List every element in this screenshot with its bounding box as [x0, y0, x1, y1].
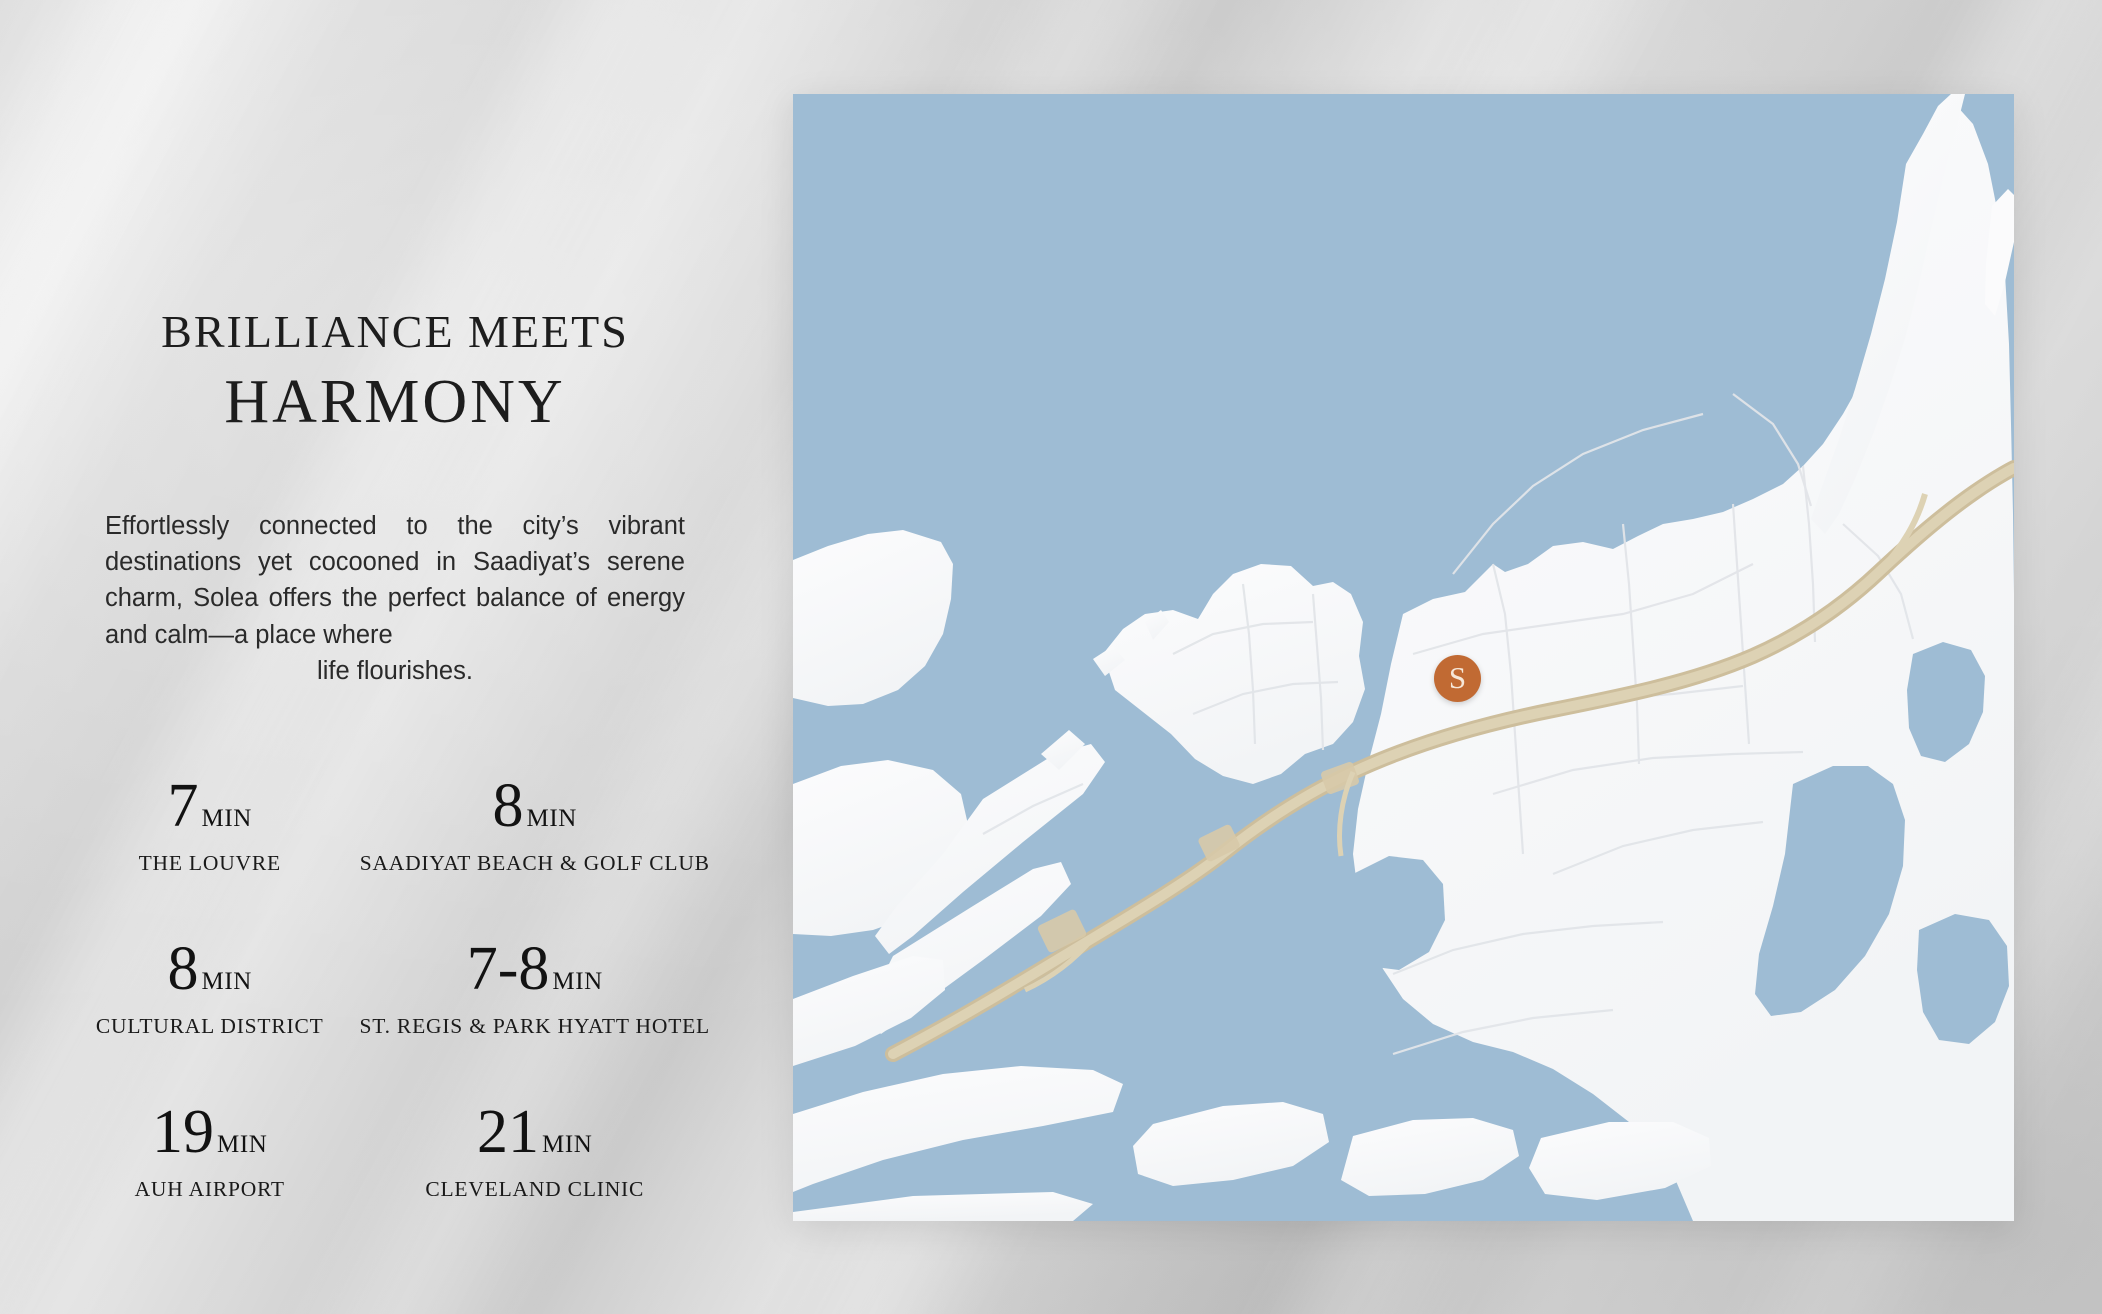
stat-number: 21 — [477, 1098, 539, 1166]
stat-number: 7 — [168, 772, 199, 840]
stat-value: 7MIN — [60, 775, 359, 837]
left-content-panel: BRILLIANCE MEETS HARMONY Effortlessly co… — [0, 0, 790, 1314]
body-paragraph: Effortlessly connected to the city’s vib… — [105, 508, 685, 689]
marker-letter: S — [1449, 662, 1466, 693]
stat-number: 7-8 — [467, 935, 550, 1003]
headline-line-1: BRILLIANCE MEETS — [0, 305, 790, 359]
stat-label: CLEVELAND CLINIC — [359, 1177, 710, 1202]
stat-value: 21MIN — [359, 1101, 710, 1163]
stat-item: 19MIN AUH AIRPORT — [60, 1101, 359, 1202]
map-graphic — [793, 94, 2014, 1221]
stat-label: AUH AIRPORT — [60, 1177, 359, 1202]
stat-item: 7-8MIN ST. REGIS & PARK HYATT HOTEL — [359, 938, 710, 1039]
headline-block: BRILLIANCE MEETS HARMONY — [0, 305, 790, 440]
stat-item: 7MIN THE LOUVRE — [60, 775, 359, 876]
stat-number: 8 — [493, 772, 524, 840]
stat-item: 8MIN SAADIYAT BEACH & GOLF CLUB — [359, 775, 710, 876]
travel-times-grid: 7MIN THE LOUVRE 8MIN SAADIYAT BEACH & GO… — [60, 775, 710, 1202]
solea-location-marker-icon[interactable]: S — [1434, 655, 1481, 702]
stat-value: 7-8MIN — [359, 938, 710, 1000]
body-paragraph-text: Effortlessly connected to the city’s vib… — [105, 512, 685, 649]
stat-number: 8 — [168, 935, 199, 1003]
location-map[interactable] — [793, 94, 2014, 1221]
stat-value: 8MIN — [359, 775, 710, 837]
body-paragraph-last-line: life flourishes. — [105, 653, 685, 689]
stat-unit: MIN — [202, 968, 252, 995]
stat-label: THE LOUVRE — [60, 851, 359, 876]
stat-unit: MIN — [527, 805, 577, 832]
stat-unit: MIN — [202, 805, 252, 832]
page-title: HARMONY — [0, 365, 790, 439]
stat-label: CULTURAL DISTRICT — [60, 1014, 359, 1039]
stat-value: 19MIN — [60, 1101, 359, 1163]
stat-number: 19 — [152, 1098, 214, 1166]
stat-unit: MIN — [217, 1131, 267, 1158]
stat-label: SAADIYAT BEACH & GOLF CLUB — [359, 851, 710, 876]
stat-item: 8MIN CULTURAL DISTRICT — [60, 938, 359, 1039]
stat-item: 21MIN CLEVELAND CLINIC — [359, 1101, 710, 1202]
stat-unit: MIN — [552, 968, 602, 995]
stat-value: 8MIN — [60, 938, 359, 1000]
stat-label: ST. REGIS & PARK HYATT HOTEL — [359, 1014, 710, 1039]
stat-unit: MIN — [542, 1131, 592, 1158]
